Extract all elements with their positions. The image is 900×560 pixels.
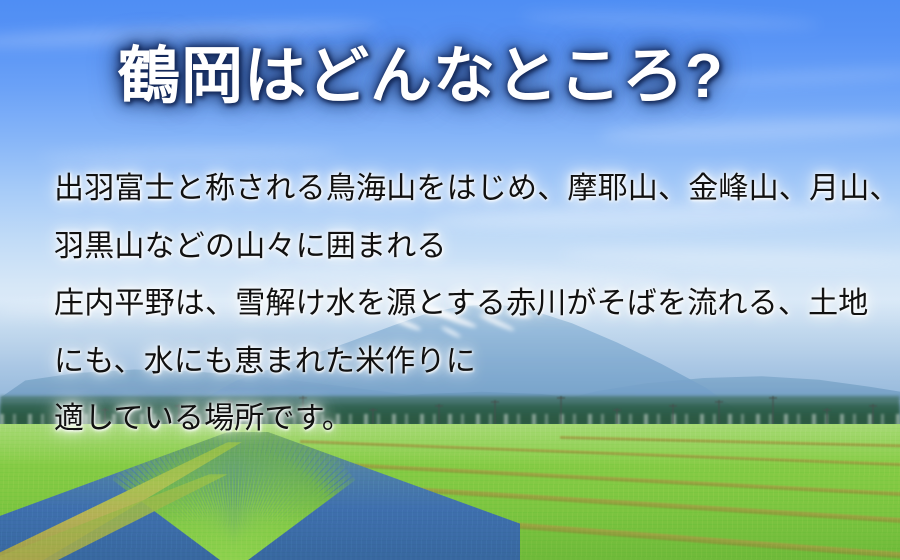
description-line: 庄内平野は、雪解け水を源とする赤川がそばを流れる、土地	[54, 275, 854, 333]
description-line: にも、水にも恵まれた米作りに	[54, 333, 854, 391]
description-text: 出羽富士と称される鳥海山をはじめ、摩耶山、金峰山、月山、 羽黒山などの山々に囲ま…	[54, 160, 854, 448]
description-line: 羽黒山などの山々に囲まれる	[54, 218, 854, 276]
utility-pole	[872, 404, 874, 424]
cloud-wisp-icon	[520, 10, 820, 31]
description-line: 出羽富士と称される鳥海山をはじめ、摩耶山、金峰山、月山、	[54, 160, 854, 218]
tsuruoka-intro-banner: 鶴岡はどんなところ? 出羽富士と称される鳥海山をはじめ、摩耶山、金峰山、月山、 …	[0, 0, 900, 560]
description-line: 適している場所です。	[54, 390, 854, 448]
cloud-wisp-icon	[600, 114, 900, 146]
page-title: 鶴岡はどんなところ?	[118, 46, 724, 108]
